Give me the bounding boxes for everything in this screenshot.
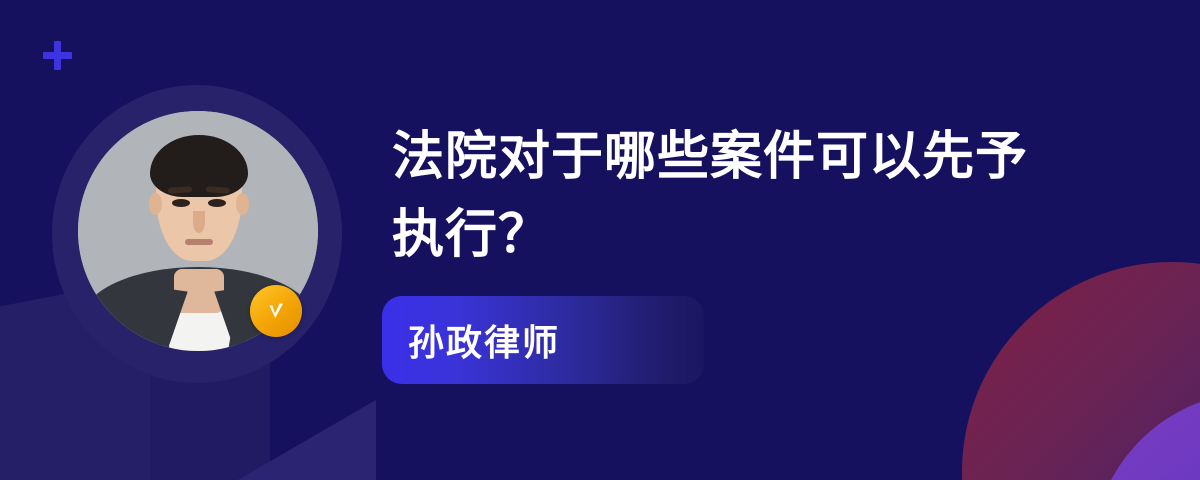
plus-icon bbox=[43, 41, 72, 70]
page-title: 法院对于哪些案件可以先予执行？ bbox=[392, 118, 1032, 274]
verified-badge-icon bbox=[250, 285, 302, 337]
decor-slab-lower-left bbox=[0, 395, 170, 480]
headline-block: 法院对于哪些案件可以先予执行？ bbox=[392, 118, 1182, 274]
lawyer-name-label: 孙政律师 bbox=[382, 314, 560, 366]
lawyer-question-banner: 法院对于哪些案件可以先予执行？ 孙政律师 bbox=[0, 0, 1200, 480]
lawyer-name-chip[interactable]: 孙政律师 bbox=[382, 296, 704, 384]
avatar bbox=[52, 85, 342, 383]
